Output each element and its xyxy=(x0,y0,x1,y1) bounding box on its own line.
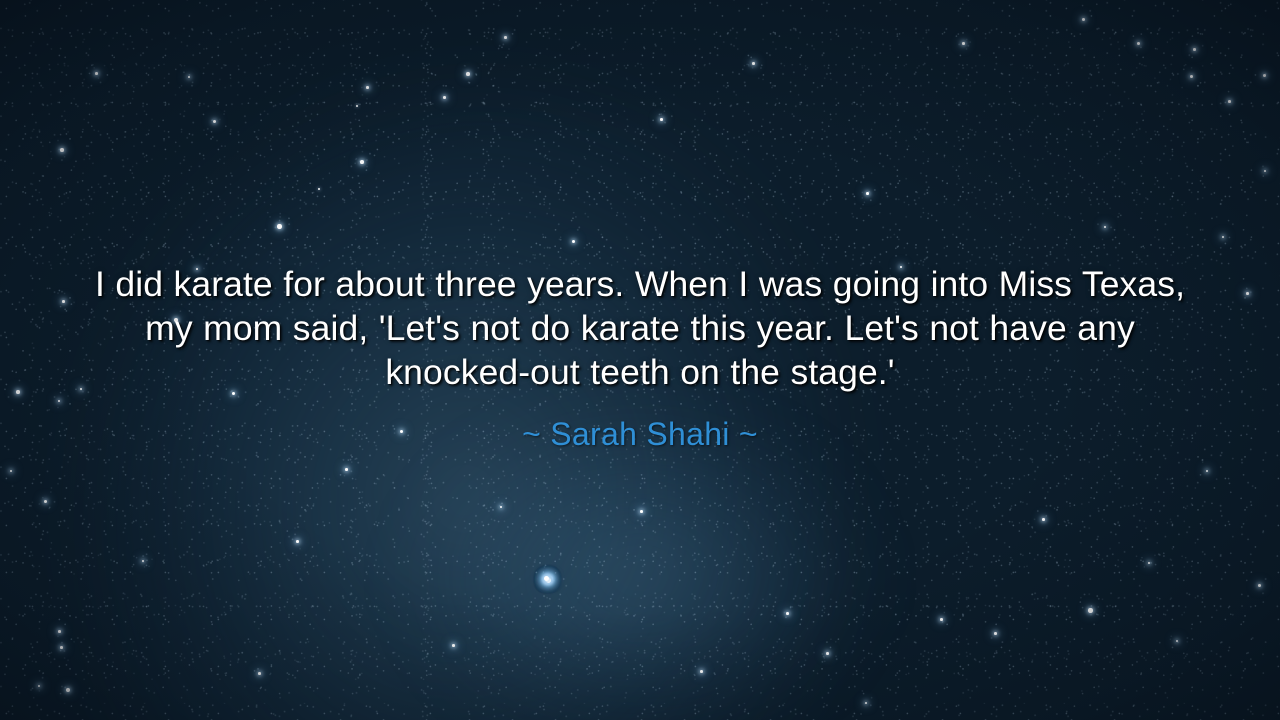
quote-text: I did karate for about three years. When… xyxy=(85,262,1195,394)
quote-image-canvas: I did karate for about three years. When… xyxy=(0,0,1280,720)
quote-block: I did karate for about three years. When… xyxy=(85,262,1195,452)
quote-attribution: ~ Sarah Shahi ~ xyxy=(85,416,1195,452)
quote-content: I did karate for about three years. When… xyxy=(0,0,1280,720)
